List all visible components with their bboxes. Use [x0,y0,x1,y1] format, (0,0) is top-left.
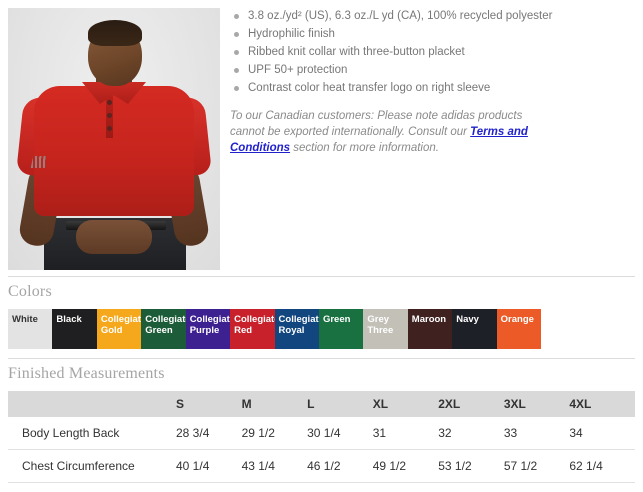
color-swatch-label: Collegiate Gold [97,309,146,336]
color-swatch[interactable]: Maroon [408,309,452,349]
color-swatch[interactable]: Collegiate Green [141,309,185,349]
colors-heading: Colors [0,277,643,309]
polo-button-1 [107,100,112,105]
color-swatch-label: Collegiate Green [141,309,190,336]
product-detail-page: 3.8 oz./yd² (US), 6.3 oz./L yd (CA), 100… [0,0,643,492]
polo-body [34,86,194,216]
model-hands [76,220,152,254]
cell: 32 [438,417,504,450]
table-body: Body Length Back 28 3/4 29 1/2 30 1/4 31… [8,417,635,492]
table-header-row: S M L XL 2XL 3XL 4XL [8,391,635,417]
cell: 43 1/4 [242,450,308,483]
polo-button-2 [107,113,112,118]
cell: 28 3/4 [176,417,242,450]
cell: 9 1/2 [176,483,242,492]
model-hair [88,20,142,46]
table-header: S M L XL 2XL 3XL 4XL [8,391,635,417]
cell: 30 1/4 [307,417,373,450]
product-specs: 3.8 oz./yd² (US), 6.3 oz./L yd (CA), 100… [220,0,643,168]
list-item: 3.8 oz./yd² (US), 6.3 oz./L yd (CA), 100… [230,8,635,25]
polo-button-3 [107,126,112,131]
cell: 57 1/2 [504,450,570,483]
row-label: Chest Circumference [8,450,176,483]
list-item: Ribbed knit collar with three-button pla… [230,44,635,61]
color-swatch[interactable]: Collegiate Red [230,309,274,349]
table-row: Chest Circumference 40 1/4 43 1/4 46 1/2… [8,450,635,483]
cell: 11 1/4 [504,483,570,492]
list-item: Hydrophilic finish [230,26,635,43]
measurements-heading: Finished Measurements [0,359,643,391]
color-swatch[interactable]: Collegiate Purple [186,309,230,349]
product-top-section: 3.8 oz./yd² (US), 6.3 oz./L yd (CA), 100… [0,0,643,270]
color-swatch[interactable]: Navy [452,309,496,349]
color-swatch[interactable]: Grey Three [363,309,407,349]
cell: 53 1/2 [438,450,504,483]
column-header-2xl: 2XL [438,391,504,417]
cell: 40 1/4 [176,450,242,483]
column-header-3xl: 3XL [504,391,570,417]
color-swatch[interactable]: Collegiate Gold [97,309,141,349]
column-header-m: M [242,391,308,417]
column-header-xl: XL [373,391,439,417]
cell: 62 1/4 [569,450,635,483]
table-row: Body Length Back 28 3/4 29 1/2 30 1/4 31… [8,417,635,450]
color-swatch-list: White Black Collegiate Gold Collegiate G… [8,309,541,349]
cell: 46 1/2 [307,450,373,483]
column-header-l: L [307,391,373,417]
color-swatch-label: Black [52,309,81,325]
color-swatch[interactable]: Black [52,309,96,349]
column-header-label [8,391,176,417]
color-swatch[interactable]: Orange [497,309,541,349]
adidas-logo-icon [31,156,48,168]
list-item: Contrast color heat transfer logo on rig… [230,80,635,97]
color-swatch-label: Collegiate Royal [275,309,324,336]
row-label: Body Length Back [8,417,176,450]
color-swatch[interactable]: Green [319,309,363,349]
color-swatch-label: Maroon [408,309,446,325]
color-swatch[interactable]: Collegiate Royal [275,309,319,349]
color-swatch-label: Collegiate Red [230,309,279,336]
list-item: UPF 50+ protection [230,62,635,79]
note-text-after-link: section for more information. [290,142,439,154]
table-row: Sleeve Length 9 1/2 10 10 1/4 10 1/2 10 … [8,483,635,492]
cell: 10 1/4 [307,483,373,492]
color-swatch-label: Grey Three [363,309,407,336]
canadian-customers-note: To our Canadian customers: Please note a… [230,108,540,156]
cell: 10 1/2 [373,483,439,492]
cell: 29 1/2 [242,417,308,450]
cell: 31 [373,417,439,450]
cell: 49 1/2 [373,450,439,483]
cell: 11 1/2 [569,483,635,492]
column-header-4xl: 4XL [569,391,635,417]
color-swatch-label: White [8,309,38,325]
finished-measurements-table: S M L XL 2XL 3XL 4XL Body Length Back 28… [8,391,635,492]
product-photo-illustration [8,8,220,270]
cell: 34 [569,417,635,450]
cell: 10 [242,483,308,492]
spec-bullet-list: 3.8 oz./yd² (US), 6.3 oz./L yd (CA), 100… [230,8,635,97]
product-image[interactable] [8,8,220,270]
color-swatch-label: Navy [452,309,479,325]
color-swatch-label: Green [319,309,350,325]
color-swatch-label: Collegiate Purple [186,309,235,336]
cell: 33 [504,417,570,450]
cell: 10 3/4 [438,483,504,492]
color-swatch-label: Orange [497,309,534,325]
color-swatch[interactable]: White [8,309,52,349]
column-header-s: S [176,391,242,417]
row-label: Sleeve Length [8,483,176,492]
